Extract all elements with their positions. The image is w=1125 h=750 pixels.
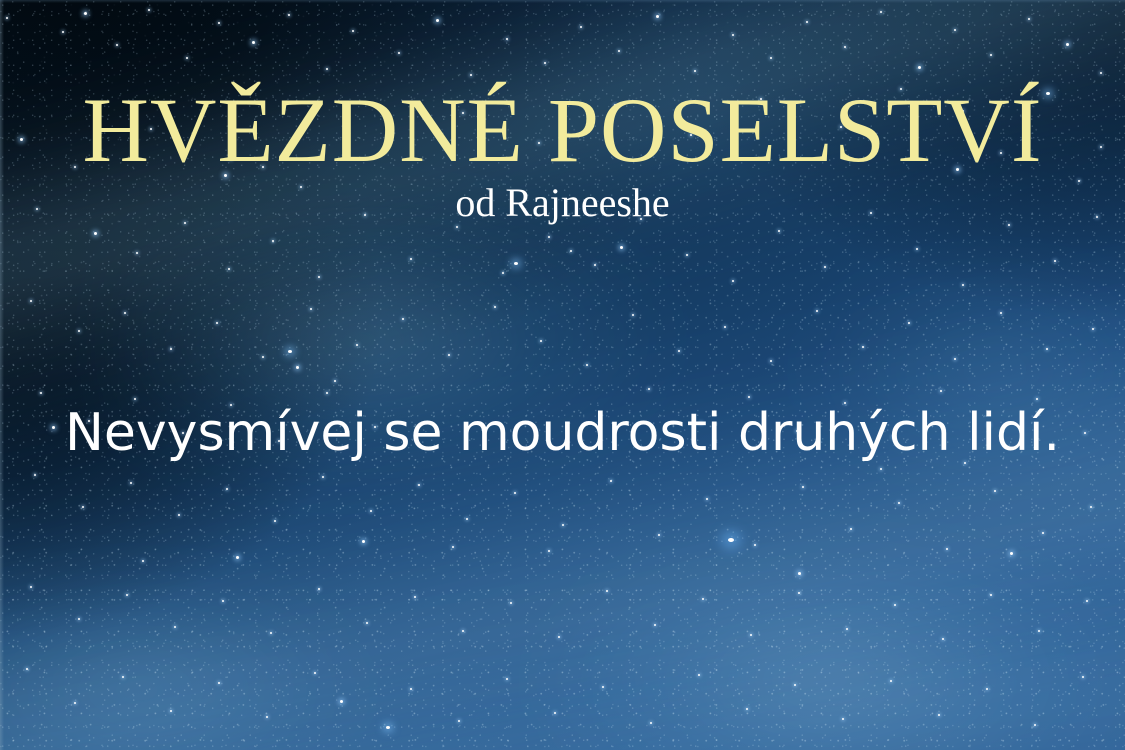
slide-canvas: HVĚZDNÉ POSELSTVÍ od Rajneeshe Nevysmíve…	[0, 0, 1125, 750]
slide-subtitle-author: od Rajneeshe	[0, 183, 1125, 223]
slide-quote-text: Nevysmívej se moudrosti druhých lidí.	[0, 406, 1125, 461]
slide-title: HVĚZDNÉ POSELSTVÍ	[0, 84, 1125, 176]
slide-content: HVĚZDNÉ POSELSTVÍ od Rajneeshe Nevysmíve…	[0, 0, 1125, 750]
